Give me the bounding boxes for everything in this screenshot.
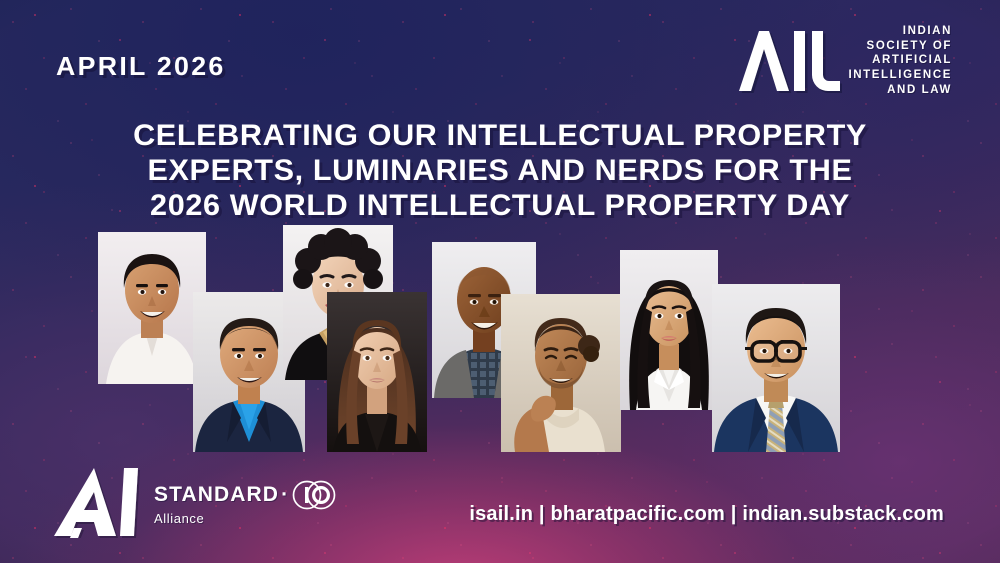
photo-collage [0,222,1000,454]
date-label: APRIL 2026 [56,51,226,82]
poster-canvas: APRIL 2026 INDIAN SOCIETY OF ARTIFICIAL … [0,0,1000,563]
standard-separator: · [281,484,289,505]
portrait-person-7-image [620,250,718,410]
ail-subtitle-line-3: ARTIFICIAL [872,53,952,68]
portrait-person-1-image [98,232,206,384]
portrait-person-8-image [712,284,840,452]
footer-urls[interactable]: isail.in | bharatpacific.com | indian.su… [469,503,944,526]
ail-subtitle-line-1: INDIAN [903,24,952,39]
ail-subtitle: INDIAN SOCIETY OF ARTIFICIAL INTELLIGENC… [848,24,952,98]
headline-line-3: 2026 WORLD INTELLECTUAL PROPERTY DAY [0,188,1000,223]
headline-line-1: CELEBRATING OUR INTELLECTUAL PROPERTY [0,118,1000,153]
standard-word: STANDARD [154,484,279,505]
headline-line-2: EXPERTS, LUMINARIES AND NERDS FOR THE [0,153,1000,188]
ail-wordmark-icon [736,29,842,93]
portrait-person-6 [501,294,621,452]
alliance-label: Alliance [154,512,337,525]
ai-standard-alliance-logo: STANDARD · Alliance [54,466,337,538]
portrait-person-7 [620,250,718,410]
ail-subtitle-line-4: INTELLIGENCE [848,68,952,83]
ail-subtitle-line-5: AND LAW [887,83,952,98]
ail-subtitle-line-2: SOCIETY OF [867,39,952,54]
ai-monogram-icon [54,466,140,538]
portrait-person-4-image [327,292,427,452]
portrait-person-8 [712,284,840,452]
portrait-person-4 [327,292,427,452]
ail-logo: INDIAN SOCIETY OF ARTIFICIAL INTELLIGENC… [736,24,952,98]
portrait-person-1 [98,232,206,384]
ai-standard-wordmark: STANDARD · Alliance [154,480,337,525]
io-circles-icon [291,480,337,510]
portrait-person-6-image [501,294,621,452]
ai-standard-word-row: STANDARD · [154,480,337,510]
page-title: CELEBRATING OUR INTELLECTUAL PROPERTY EX… [0,118,1000,223]
